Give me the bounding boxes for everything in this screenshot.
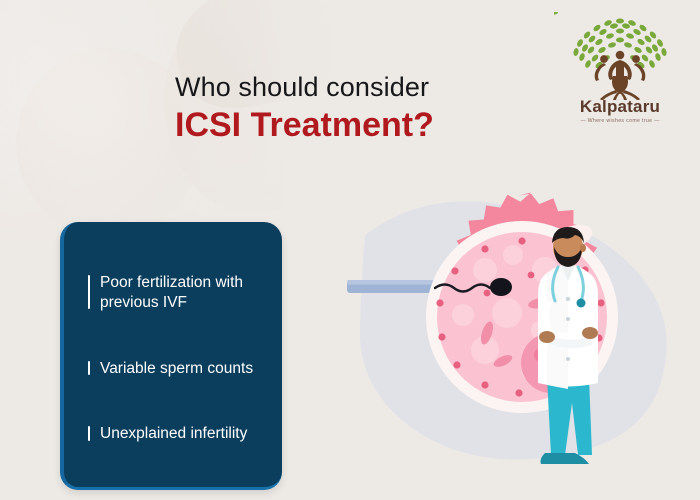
list-item-label: Poor fertilization with previous IVF: [100, 273, 266, 312]
bullet-marker-icon: [88, 361, 90, 376]
brand-logo: Kalpataru — Where wishes come true —: [554, 12, 686, 124]
brand-name: Kalpataru: [554, 98, 686, 115]
list-item: Variable sperm counts: [88, 359, 266, 379]
headline: Who should consider ICSI Treatment?: [175, 72, 535, 144]
headline-line-1: Who should consider: [175, 72, 535, 102]
bullet-marker-icon: [88, 426, 90, 441]
icsi-illustration: [335, 175, 700, 500]
indications-panel: Poor fertilization with previous IVF Var…: [60, 222, 282, 490]
list-item-label: Variable sperm counts: [100, 359, 253, 379]
doctor-hand-left: [539, 331, 555, 343]
headline-line-2: ICSI Treatment?: [175, 106, 535, 144]
brand-tagline: — Where wishes come true —: [554, 118, 686, 124]
doctor-shoe-left: [541, 453, 567, 464]
tree-logo-icon: [554, 12, 686, 100]
list-item-label: Unexplained infertility: [100, 424, 247, 444]
brand-tagline-text: Where wishes come true: [588, 118, 653, 124]
list-item: Unexplained infertility: [88, 424, 266, 444]
bullet-marker-icon: [88, 275, 90, 309]
list-item: Poor fertilization with previous IVF: [88, 273, 266, 312]
poster-canvas: Kalpataru — Where wishes come true — Who…: [0, 0, 700, 500]
doctor-hand-right: [582, 327, 598, 339]
stethoscope-chestpiece: [577, 299, 586, 308]
